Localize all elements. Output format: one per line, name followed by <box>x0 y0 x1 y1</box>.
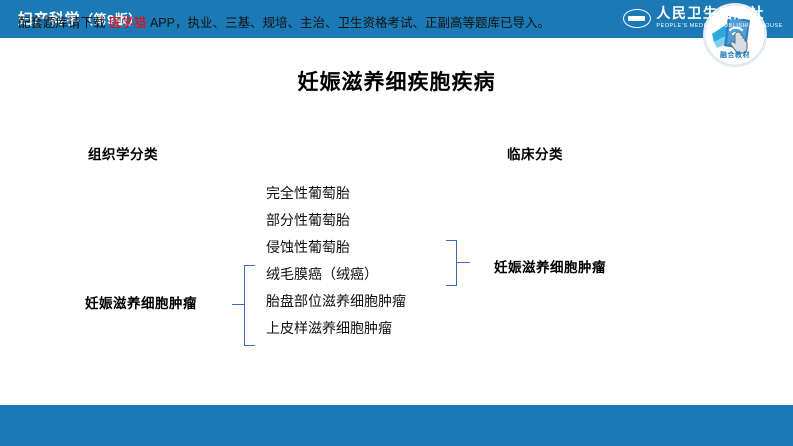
heading-clinical-classification: 临床分类 <box>507 143 563 163</box>
classification-item-list: 完全性葡萄胎 部分性葡萄胎 侵蚀性葡萄胎 绒毛膜癌（绒癌） 胎盘部位滋养细胞肿瘤… <box>266 180 526 342</box>
right-bracket-connector <box>457 262 470 263</box>
list-item: 上皮样滋养细胞肿瘤 <box>266 315 526 342</box>
label-gtn-clinical: 妊娠滋养细胞肿瘤 <box>494 256 606 276</box>
list-item: 绒毛膜癌（绒癌） <box>266 261 526 288</box>
footer-app-name: 医学猫 <box>109 16 147 30</box>
badge-label: 融合教材 <box>704 50 766 60</box>
footer-text-after: APP，执业、三基、规培、主治、卫生资格考试、正副高等题库已导入。 <box>147 16 551 30</box>
list-item: 部分性葡萄胎 <box>266 207 526 234</box>
label-gtn-histologic: 妊娠滋养细胞肿瘤 <box>85 292 197 312</box>
publisher-name-cn: 人民卫生出版社 <box>656 8 783 23</box>
left-bracket-connector <box>232 304 245 305</box>
publisher-mark-icon <box>623 9 651 28</box>
publisher-name-en: PEOPLE'S MEDICAL PUBLISHING HOUSE <box>656 24 783 30</box>
list-item: 胎盘部位滋养细胞肿瘤 <box>266 288 526 315</box>
left-grouping-bracket <box>244 265 255 346</box>
publisher-logo: 人民卫生出版社 PEOPLE'S MEDICAL PUBLISHING HOUS… <box>623 8 783 29</box>
publisher-names: 人民卫生出版社 PEOPLE'S MEDICAL PUBLISHING HOUS… <box>656 8 783 29</box>
footer-text-before: 配套题库请下载 <box>18 16 109 30</box>
heading-histologic-classification: 组织学分类 <box>88 143 158 163</box>
list-item: 完全性葡萄胎 <box>266 180 526 207</box>
footer-promo-text: 配套题库请下载 医学猫 APP，执业、三基、规培、主治、卫生资格考试、正副高等题… <box>18 12 550 31</box>
footer-bar <box>0 405 793 446</box>
right-grouping-bracket <box>446 240 457 286</box>
slide-title: 妊娠滋养细疾胞疾病 <box>0 66 793 96</box>
list-item: 侵蚀性葡萄胎 <box>266 234 526 261</box>
